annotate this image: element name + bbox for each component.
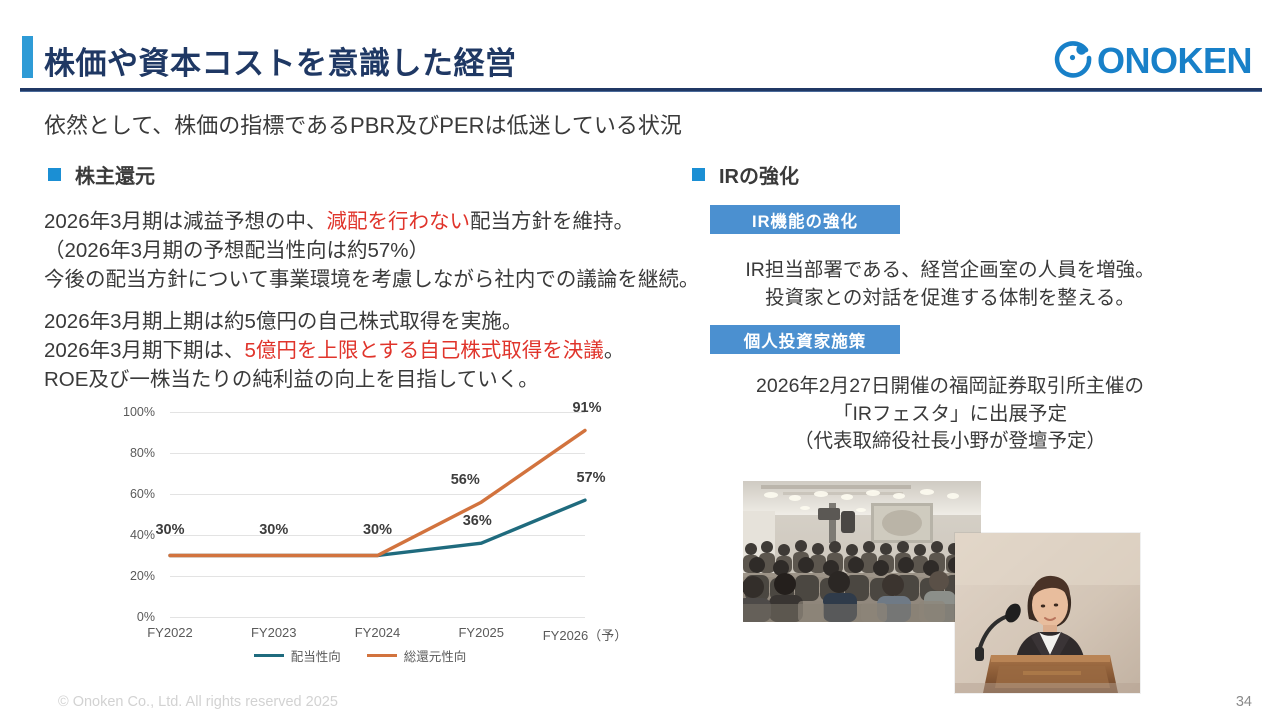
buyback-line-1: 2026年3月期上期は約5億円の自己株式取得を実施。	[44, 307, 624, 336]
chart-legend-label: 総還元性向	[404, 646, 467, 665]
chart-legend-entry: 配当性向	[254, 646, 341, 665]
chart-legend-label: 配当性向	[291, 646, 341, 665]
badge-retail-investor: 個人投資家施策	[710, 325, 900, 354]
photo-seminar-audience	[743, 481, 981, 622]
chart-shared-data-label: 30%	[259, 522, 288, 538]
slide-header: 株価や資本コストを意識した経営 ONOKEN	[0, 0, 1280, 92]
buyback-line-3: ROE及び一株当たりの純利益の向上を目指していく。	[44, 365, 624, 394]
chart-x-tick-label: FY2022	[147, 625, 193, 640]
dividend-line-1: 2026年3月期は減益予想の中、減配を行わない配当方針を維持。	[44, 207, 699, 236]
note-ir-function-line-1: IR担当部署である、経営企画室の人員を増強。	[700, 257, 1200, 285]
chart-gridline	[170, 617, 585, 618]
lead-statement: 依然として、株価の指標であるPBR及びPERは低迷している状況	[44, 108, 682, 140]
dividend-line-2: （2026年3月期の予想配当性向は約57%）	[44, 236, 699, 265]
chart-x-tick-label: FY2023	[251, 625, 297, 640]
payout-ratio-line-chart: 0%20%40%60%80%100% FY2022FY2023FY2024FY2…	[110, 398, 610, 673]
chart-legend: 配当性向総還元性向	[110, 646, 610, 665]
chart-y-tick-label: 60%	[130, 487, 155, 501]
note-ir-function-line-2: 投資家との対話を促進する体制を整える。	[700, 285, 1200, 313]
note-retail-investor: 2026年2月27日開催の福岡証券取引所主催の 「IRフェスタ」に出展予定 （代…	[700, 373, 1200, 456]
header-divider	[20, 88, 1262, 92]
chart-data-label: 57%	[576, 470, 605, 486]
note-ir-function: IR担当部署である、経営企画室の人員を増強。 投資家との対話を促進する体制を整え…	[700, 257, 1200, 312]
section-heading-label: IRの強化	[719, 160, 799, 189]
section-heading-shareholder-return: 株主還元	[48, 160, 155, 189]
section-heading-ir: IRの強化	[692, 160, 799, 189]
note-retail-investor-line-2: 「IRフェスタ」に出展予定	[700, 401, 1200, 429]
square-bullet-icon	[692, 168, 705, 181]
chart-data-label: 56%	[451, 472, 480, 488]
chart-shared-data-label: 30%	[155, 522, 184, 538]
footer-copyright: © Onoken Co., Ltd. All rights reserved 2…	[58, 694, 338, 710]
chart-legend-entry: 総還元性向	[367, 646, 467, 665]
page-title: 株価や資本コストを意識した経営	[44, 38, 517, 83]
title-accent-bar	[22, 36, 33, 78]
section-heading-label: 株主還元	[75, 160, 155, 189]
chart-y-tick-label: 40%	[130, 528, 155, 542]
chart-y-tick-label: 20%	[130, 569, 155, 583]
note-retail-investor-line-1: 2026年2月27日開催の福岡証券取引所主催の	[700, 373, 1200, 401]
chart-y-tick-label: 80%	[130, 446, 155, 460]
chart-y-tick-label: 0%	[137, 610, 155, 624]
dividend-line-1-part-a: 2026年3月期は減益予想の中、	[44, 210, 327, 233]
buyback-line-2-part-b: 。	[604, 339, 625, 362]
chart-x-tick-label: FY2026（予）	[543, 625, 628, 644]
square-bullet-icon	[48, 168, 61, 181]
buyback-line-2-part-a: 2026年3月期下期は、	[44, 339, 245, 362]
footer-page-number: 34	[1236, 694, 1252, 710]
dividend-line-1-highlight: 減配を行わない	[327, 210, 471, 233]
chart-legend-swatch	[367, 654, 397, 657]
paragraph-share-buyback: 2026年3月期上期は約5億円の自己株式取得を実施。 2026年3月期下期は、5…	[44, 307, 624, 394]
chart-x-tick-label: FY2025	[458, 625, 504, 640]
note-retail-investor-line-3: （代表取締役社長小野が登壇予定）	[700, 428, 1200, 456]
paragraph-dividend-policy: 2026年3月期は減益予想の中、減配を行わない配当方針を維持。 （2026年3月…	[44, 207, 699, 294]
chart-x-tick-label: FY2024	[355, 625, 401, 640]
buyback-line-2: 2026年3月期下期は、5億円を上限とする自己株式取得を決議。	[44, 336, 624, 365]
chart-data-label: 36%	[463, 513, 492, 529]
onoken-circle-swirl-icon	[1053, 38, 1093, 83]
brand-logo-text: ONOKEN	[1097, 40, 1252, 82]
chart-shared-data-label: 30%	[363, 522, 392, 538]
chart-plot-area: 0%20%40%60%80%100% FY2022FY2023FY2024FY2…	[170, 412, 585, 617]
brand-logo: ONOKEN	[1053, 38, 1252, 83]
chart-y-tick-label: 100%	[123, 405, 155, 419]
photo-speaker-podium	[955, 533, 1140, 693]
chart-series-lines	[170, 412, 585, 617]
buyback-line-2-highlight: 5億円を上限とする自己株式取得を決議	[245, 339, 604, 362]
badge-ir-function: IR機能の強化	[710, 205, 900, 234]
dividend-line-1-part-b: 配当方針を維持。	[470, 210, 634, 233]
chart-data-label: 91%	[572, 400, 601, 416]
chart-legend-swatch	[254, 654, 284, 657]
dividend-line-3: 今後の配当方針について事業環境を考慮しながら社内での議論を継続。	[44, 265, 699, 294]
